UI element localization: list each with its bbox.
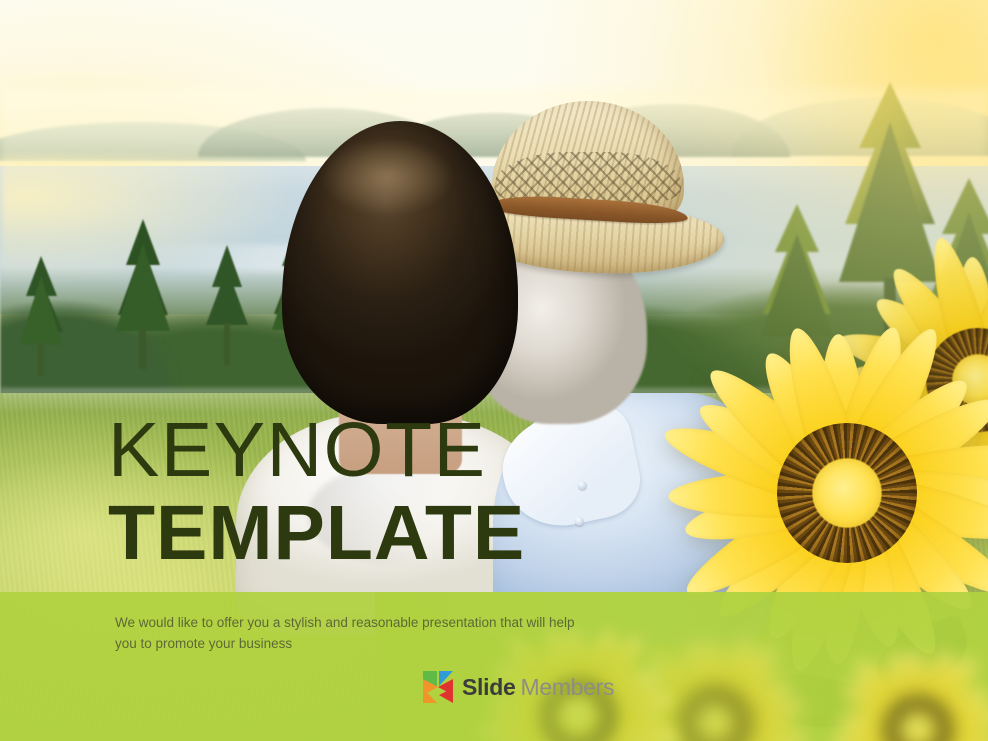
conifer-tree: [10, 256, 72, 376]
hair-highlight: [318, 136, 472, 227]
logo-wordmark: Slide Members: [462, 674, 614, 701]
title-line-2: TEMPLATE: [108, 497, 668, 569]
page-title: KEYNOTE TEMPLATE: [108, 414, 668, 570]
title-line-1: KEYNOTE: [108, 414, 668, 486]
subtitle-text: We would like to offer you a stylish and…: [115, 613, 585, 655]
slidemembers-pinwheel-icon: [422, 670, 454, 704]
logo-word-light: Members: [520, 674, 614, 701]
conifer-tree: [104, 219, 182, 369]
logo-word-bold: Slide: [462, 674, 515, 701]
presentation-slide: KEYNOTE TEMPLATE We would like to offer …: [0, 0, 988, 741]
conifer-tree: [198, 245, 256, 365]
sunflower-disc: [777, 423, 917, 563]
slidemembers-logo[interactable]: Slide Members: [422, 668, 614, 706]
